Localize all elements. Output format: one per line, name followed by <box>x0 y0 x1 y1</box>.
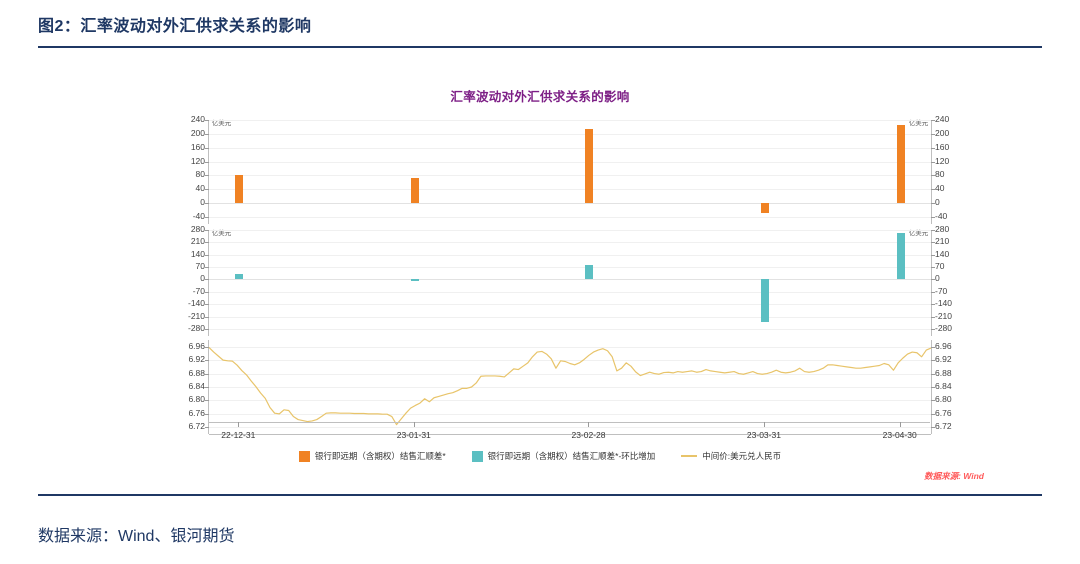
y-tick-label-left: 200 <box>191 129 205 138</box>
chart-legend: 银行即远期（含期权）结售汇顺差*银行即远期（含期权）结售汇顺差*-环比增加中间价… <box>38 450 1042 462</box>
y-tick-label-right: 6.92 <box>935 355 952 364</box>
gridline <box>209 304 931 305</box>
gridline <box>209 203 931 204</box>
y-tick-label-left: 120 <box>191 157 205 166</box>
y-tick-label-right: 6.96 <box>935 342 952 351</box>
legend-item[interactable]: 银行即远期（含期权）结售汇顺差* <box>299 450 446 462</box>
y-tick-label-right: 120 <box>935 157 949 166</box>
y-tick-label-right: 280 <box>935 225 949 234</box>
bar <box>897 125 905 203</box>
gridline <box>209 329 931 330</box>
y-tick-label-right: -280 <box>935 324 952 333</box>
plot-area-mom-change: 亿美元 亿美元 280280210210140140707000-70-70-1… <box>208 230 932 336</box>
y-tick-label-right: 0 <box>935 198 940 207</box>
panel-fx-rate: 6.966.966.926.926.886.886.846.846.806.80… <box>170 340 968 434</box>
plot-area-fx-rate: 6.966.966.926.926.886.886.846.846.806.80… <box>208 340 932 434</box>
y-tick-label-left: -40 <box>193 212 205 221</box>
y-tick-label-right: 0 <box>935 274 940 283</box>
legend-label: 银行即远期（含期权）结售汇顺差* <box>315 450 446 462</box>
y-tick-label-left: 6.72 <box>188 422 205 431</box>
y-tick-label-right: 6.72 <box>935 422 952 431</box>
gridline <box>209 148 931 149</box>
gridline <box>209 134 931 135</box>
y-tick-label-right: -210 <box>935 312 952 321</box>
y-tick-label-right: 6.80 <box>935 395 952 404</box>
y-tick-mark <box>205 230 209 231</box>
y-tick-mark <box>205 148 209 149</box>
y-tick-label-right: 200 <box>935 129 949 138</box>
plot-area-surplus: 亿美元 亿美元 24024020020016016012012080804040… <box>208 120 932 224</box>
top-divider <box>38 46 1042 48</box>
y-tick-mark <box>205 255 209 256</box>
y-tick-label-right: 240 <box>935 115 949 124</box>
bar <box>411 279 419 281</box>
panel-baseline <box>209 434 931 435</box>
y-tick-mark <box>205 134 209 135</box>
gridline <box>209 292 931 293</box>
y-tick-mark <box>205 242 209 243</box>
y-tick-label-left: 160 <box>191 143 205 152</box>
gridline <box>209 189 931 190</box>
panel-surplus: 亿美元 亿美元 24024020020016016012012080804040… <box>170 120 968 224</box>
y-tick-label-left: 6.88 <box>188 369 205 378</box>
gridline <box>209 120 931 121</box>
y-tick-label-left: 210 <box>191 237 205 246</box>
y-tick-label-left: 70 <box>196 262 205 271</box>
y-tick-label-left: 140 <box>191 250 205 259</box>
legend-swatch-icon <box>472 451 483 462</box>
bar <box>897 233 905 279</box>
legend-swatch-icon <box>681 455 697 457</box>
y-tick-mark <box>205 304 209 305</box>
legend-swatch-icon <box>299 451 310 462</box>
gridline <box>209 217 931 218</box>
gridline <box>209 242 931 243</box>
bar <box>585 265 593 279</box>
chart-title: 汇率波动对外汇供求关系的影响 <box>38 86 1042 105</box>
legend-item[interactable]: 银行即远期（含期权）结售汇顺差*-环比增加 <box>472 450 656 462</box>
bar <box>411 178 419 203</box>
y-tick-label-left: -210 <box>188 312 205 321</box>
x-tick-mark <box>588 422 589 427</box>
bar <box>235 274 243 280</box>
y-tick-label-right: 40 <box>935 184 944 193</box>
y-tick-label-right: 160 <box>935 143 949 152</box>
y-tick-label-right: 6.88 <box>935 369 952 378</box>
y-tick-mark <box>205 267 209 268</box>
y-tick-mark <box>205 120 209 121</box>
y-tick-label-left: -140 <box>188 299 205 308</box>
y-tick-label-right: 80 <box>935 170 944 179</box>
x-tick-label: 23-04-30 <box>883 430 917 440</box>
y-tick-mark <box>205 175 209 176</box>
y-tick-label-right: 6.76 <box>935 409 952 418</box>
y-tick-label-right: -70 <box>935 287 947 296</box>
y-tick-label-left: 0 <box>200 198 205 207</box>
x-tick-mark <box>764 422 765 427</box>
y-tick-label-left: 40 <box>196 184 205 193</box>
y-tick-label-right: -40 <box>935 212 947 221</box>
gridline <box>209 267 931 268</box>
y-tick-label-left: -280 <box>188 324 205 333</box>
y-tick-mark <box>205 203 209 204</box>
gridline <box>209 279 931 280</box>
y-tick-mark <box>205 279 209 280</box>
y-tick-label-left: 280 <box>191 225 205 234</box>
bar <box>761 279 769 321</box>
y-tick-label-right: 210 <box>935 237 949 246</box>
gridline <box>209 230 931 231</box>
y-tick-label-right: -140 <box>935 299 952 308</box>
legend-label: 银行即远期（含期权）结售汇顺差*-环比增加 <box>488 450 656 462</box>
y-tick-label-left: 80 <box>196 170 205 179</box>
line-series-fx-rate <box>209 340 931 434</box>
x-tick-mark <box>900 422 901 427</box>
x-tick-mark <box>414 422 415 427</box>
y-tick-label-left: 6.76 <box>188 409 205 418</box>
legend-label: 中间价:美元兑人民币 <box>702 450 781 462</box>
y-tick-mark <box>205 162 209 163</box>
y-tick-label-left: 6.96 <box>188 342 205 351</box>
gridline <box>209 317 931 318</box>
y-tick-mark <box>205 292 209 293</box>
footer-source: 数据来源：Wind、银河期货 <box>38 522 234 546</box>
gridline <box>209 175 931 176</box>
gridline <box>209 255 931 256</box>
y-tick-label-right: 140 <box>935 250 949 259</box>
y-tick-label-left: 6.92 <box>188 355 205 364</box>
bar <box>761 203 769 212</box>
y-tick-mark <box>205 217 209 218</box>
y-tick-mark <box>205 329 209 330</box>
x-tick-label: 23-03-31 <box>747 430 781 440</box>
legend-item[interactable]: 中间价:美元兑人民币 <box>681 450 781 462</box>
bottom-divider <box>38 494 1042 496</box>
chart-source-note: 数据来源: Wind <box>924 470 984 482</box>
y-tick-mark <box>205 189 209 190</box>
bar <box>235 175 243 203</box>
figure-caption: 图2：汇率波动对外汇供求关系的影响 <box>38 12 311 36</box>
x-tick-label: 23-02-28 <box>571 430 605 440</box>
y-tick-label-left: 6.80 <box>188 395 205 404</box>
y-tick-mark <box>205 317 209 318</box>
y-tick-label-left: 0 <box>200 274 205 283</box>
chart-container: 汇率波动对外汇供求关系的影响 亿美元 亿美元 24024020020016016… <box>38 52 1042 490</box>
bar <box>585 129 593 203</box>
x-tick-label: 22-12-31 <box>221 430 255 440</box>
x-tick-label: 23-01-31 <box>397 430 431 440</box>
y-tick-label-right: 70 <box>935 262 944 271</box>
page-root: 图2：汇率波动对外汇供求关系的影响 汇率波动对外汇供求关系的影响 亿美元 亿美元… <box>0 0 1080 564</box>
y-tick-label-right: 6.84 <box>935 382 952 391</box>
gridline <box>209 162 931 163</box>
y-tick-label-left: 240 <box>191 115 205 124</box>
y-tick-label-left: 6.84 <box>188 382 205 391</box>
y-tick-label-left: -70 <box>193 287 205 296</box>
x-axis: 22-12-3123-01-3123-02-2823-03-3123-04-30 <box>208 422 930 423</box>
x-tick-mark <box>238 422 239 427</box>
panel-mom-change: 亿美元 亿美元 280280210210140140707000-70-70-1… <box>170 230 968 336</box>
